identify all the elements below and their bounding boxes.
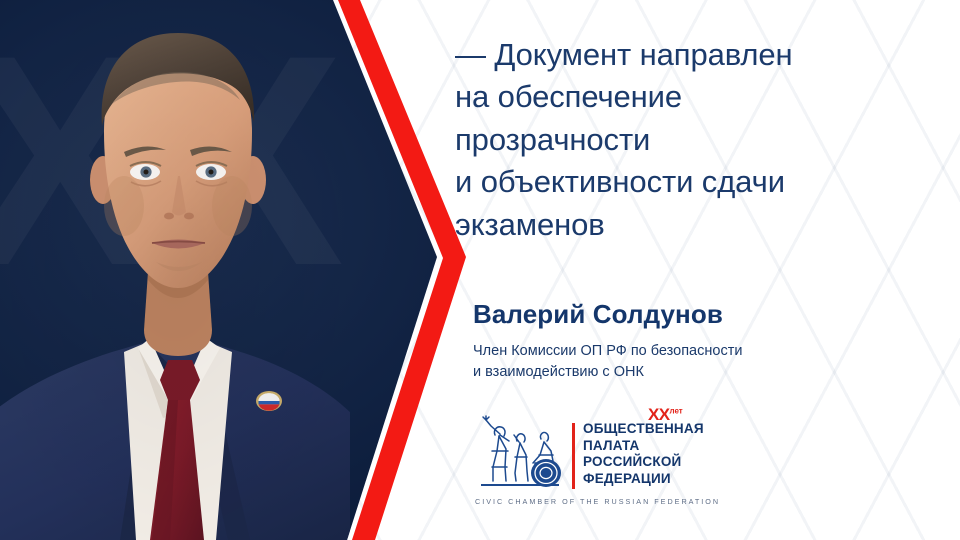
- quote-headline: — Документ направлен на обеспечение проз…: [455, 34, 905, 246]
- civic-chamber-emblem: [473, 415, 563, 491]
- speaker-role: Член Комиссии ОП РФ по безопасности и вз…: [473, 341, 742, 384]
- speaker-portrait: [0, 0, 350, 540]
- content-column: — Документ направлен на обеспечение проз…: [455, 0, 960, 540]
- anniversary-unit: лет: [669, 406, 682, 415]
- speaker-name: Валерий Солдунов: [473, 299, 723, 330]
- slide-canvas: XX: [0, 0, 960, 540]
- logo-organization-name: ОБЩЕСТВЕННАЯ ПАЛАТА РОССИЙСКОЙ ФЕДЕРАЦИИ: [583, 421, 704, 488]
- logo-divider: [572, 423, 575, 489]
- civic-chamber-logo: XXлет ОБЩЕСТВЕННАЯ ПАЛАТА РОССИЙСКОЙ ФЕД…: [473, 409, 723, 509]
- logo-english-caption: CIVIC CHAMBER OF THE RUSSIAN FEDERATION: [475, 497, 720, 506]
